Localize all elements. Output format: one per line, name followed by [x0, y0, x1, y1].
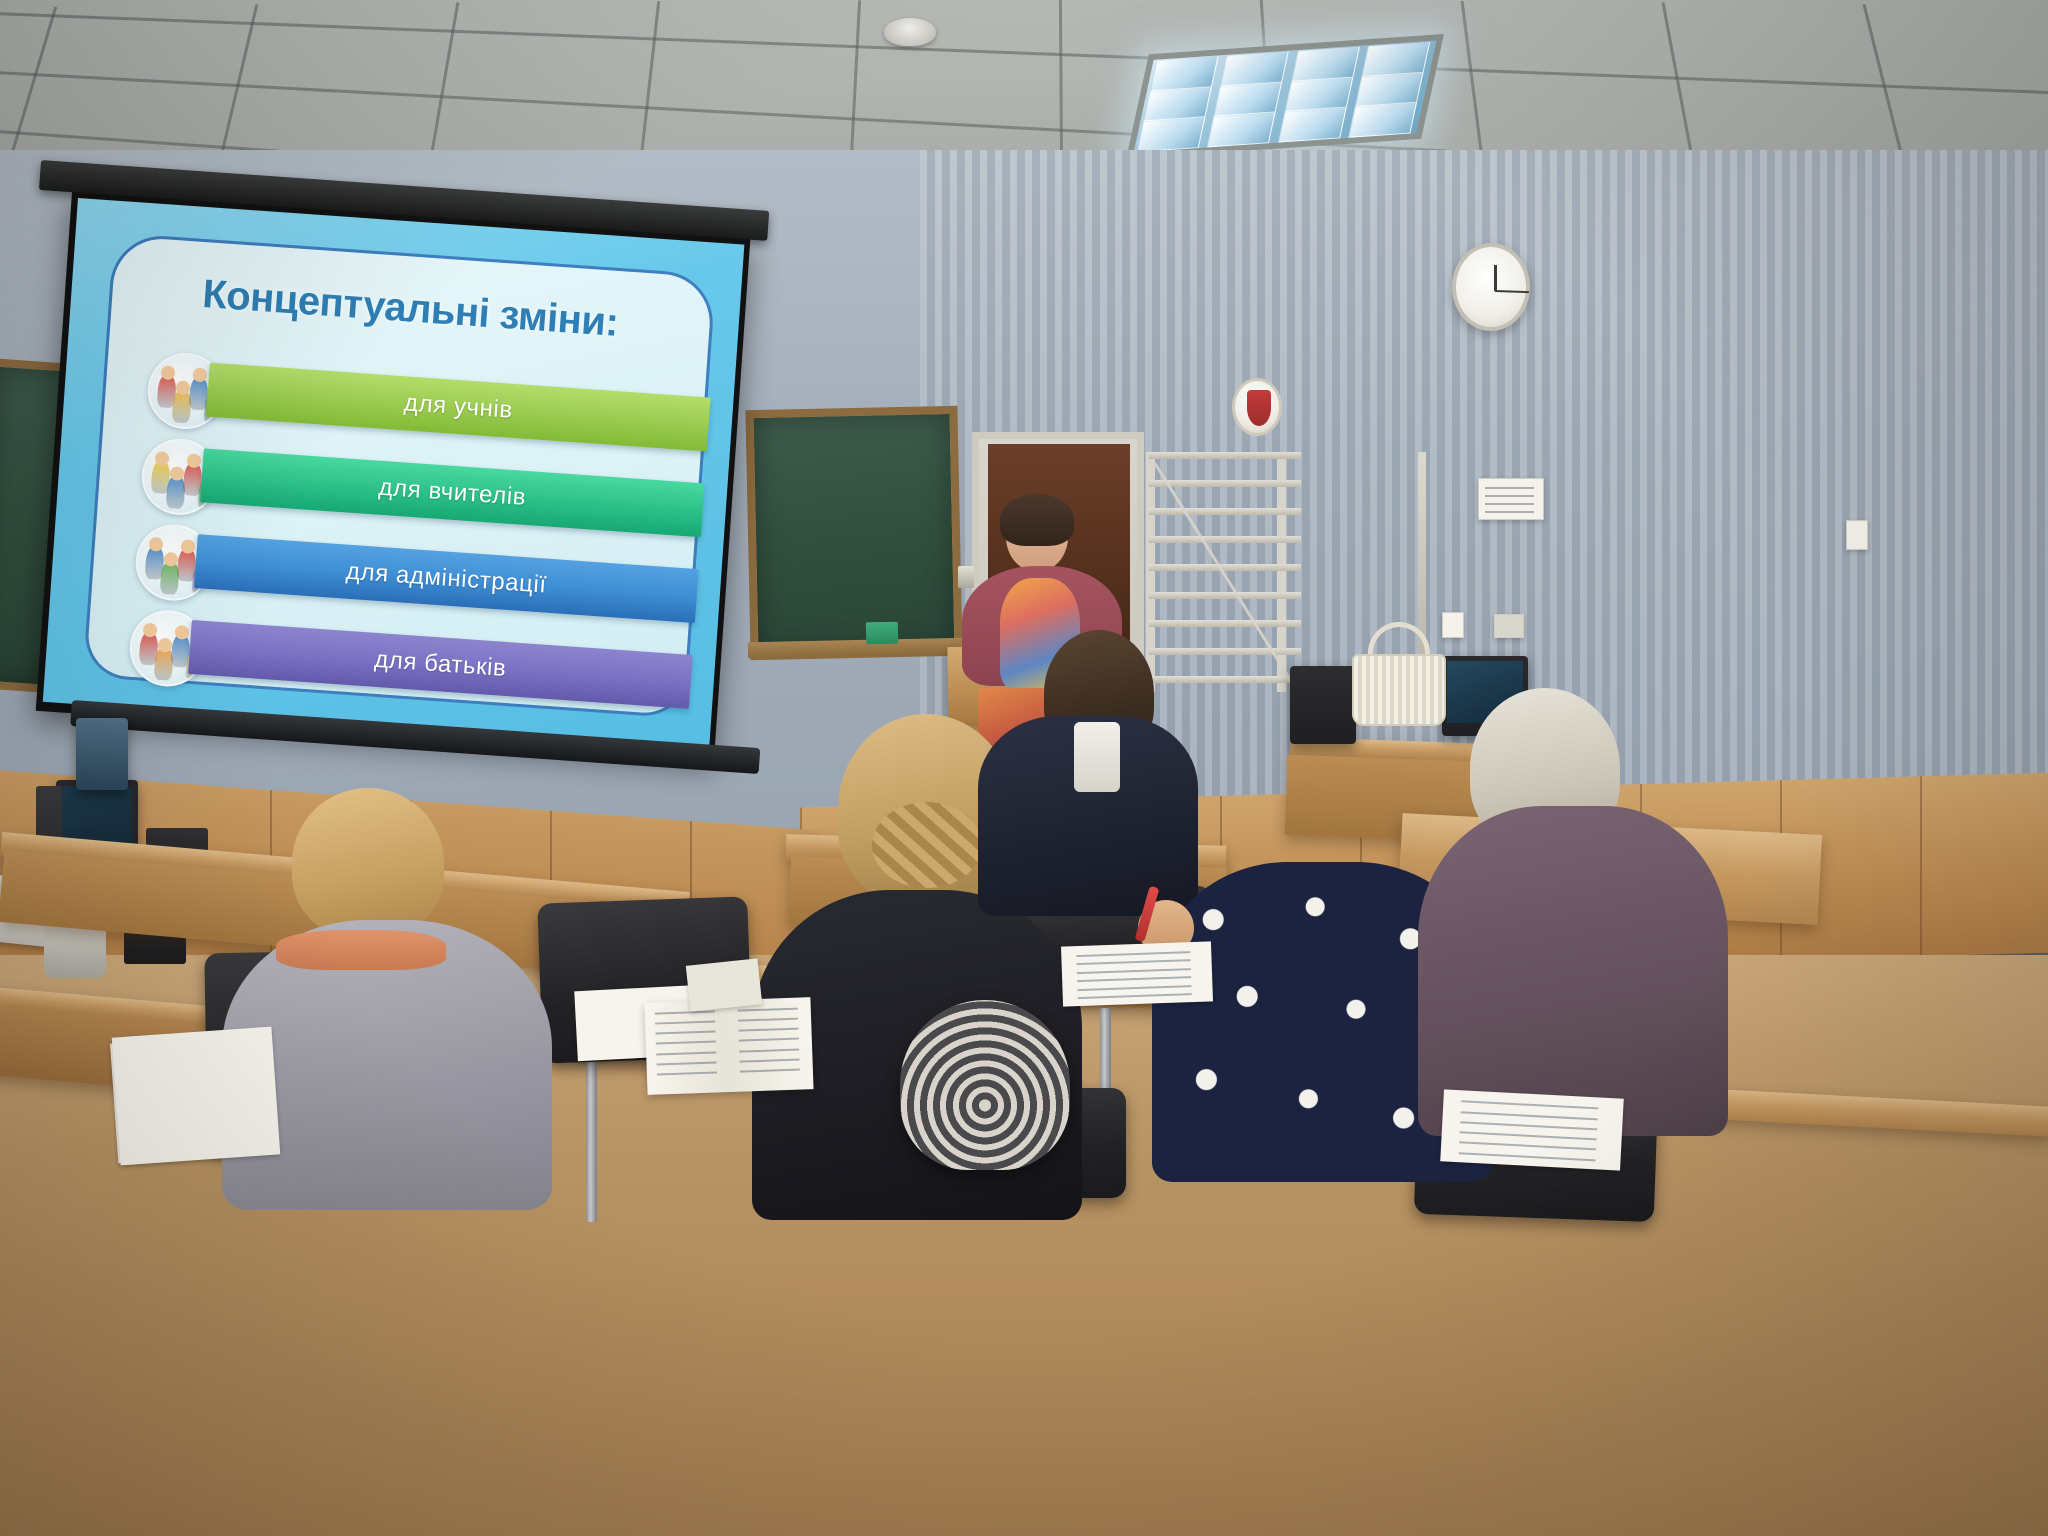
wall-bar-diagonal: [1154, 463, 1300, 694]
handout-paper-far-right: [1440, 1089, 1624, 1170]
slide-content-frame: Концептуальні зміни: для учнів для вчите…: [83, 233, 717, 719]
clock-hour-hand: [1494, 265, 1497, 291]
light-panel-cell: [1278, 108, 1347, 143]
ceiling-light-panel: [1126, 34, 1444, 159]
smoke-detector-icon: [884, 18, 936, 46]
wall-bar-rung: [1149, 564, 1301, 571]
wall-notice-far-right: [1846, 520, 1868, 550]
wall-bar-rung: [1149, 452, 1301, 459]
slide-bar-label-teachers: для вчителів: [378, 474, 527, 512]
slide-bar-teachers: для вчителів: [200, 448, 705, 537]
paper-text-line: [1485, 511, 1534, 513]
book-text-line: [739, 1058, 799, 1062]
light-panel-cell: [1136, 117, 1205, 152]
paper-text-line: [1459, 1152, 1596, 1161]
slide-bar-administration: для адміністрації: [194, 534, 699, 623]
attendee-far-right-torso: [1418, 806, 1728, 1136]
light-panel-cell: [1284, 77, 1353, 112]
light-panel-cell: [1207, 113, 1276, 148]
light-panel-cell: [1355, 72, 1424, 107]
wood-panel-seam: [1920, 776, 1922, 956]
book-text-line: [655, 1021, 715, 1025]
slide-row-teachers: для вчителів: [140, 436, 703, 537]
light-panel-cell: [1220, 51, 1289, 86]
slide-bar-label-students: для учнів: [403, 389, 514, 425]
attendee-center-braid: [872, 802, 982, 888]
green-box-object: [866, 622, 898, 645]
light-panel-cell: [1348, 103, 1417, 138]
classroom-scene: Концептуальні зміни: для учнів для вчите…: [0, 0, 2048, 1536]
paper-text-line: [1460, 1121, 1597, 1130]
book-text-line: [657, 1061, 717, 1065]
slide-row-parents: для батьків: [128, 608, 691, 709]
projected-slide: Концептуальні зміни: для учнів для вчите…: [43, 198, 745, 748]
slide-row-students: для учнів: [146, 350, 709, 451]
book-text-line: [655, 1031, 715, 1035]
wall-bars-ladder: [1146, 452, 1286, 692]
paper-text-line: [1485, 487, 1534, 489]
wall-emblem: [1232, 378, 1282, 436]
handout-paper-right: [1061, 941, 1213, 1006]
slide-bar-parents: для батьків: [188, 620, 693, 709]
book-text-line: [738, 1008, 798, 1012]
paper-text-line: [1485, 503, 1534, 505]
door-handle-icon[interactable]: [958, 566, 974, 588]
clock-minute-hand: [1495, 290, 1529, 293]
wall-bar-rung: [1149, 536, 1301, 543]
open-book-center: [644, 997, 813, 1095]
wall-bar-rung: [1149, 620, 1301, 627]
woven-basket: [1352, 654, 1446, 726]
slide-title: Концептуальні зміни:: [201, 272, 723, 353]
light-panel-cell: [1214, 82, 1283, 117]
chalkboard-right: [745, 406, 962, 660]
paper-text-line: [1485, 495, 1534, 497]
wall-plate-number: [1442, 612, 1464, 638]
tablet-device[interactable]: [686, 958, 762, 1011]
paper-text-line: [1460, 1131, 1597, 1140]
slide-bar-label-administration: для адміністрації: [345, 558, 548, 600]
paper-text-line: [1461, 1111, 1598, 1120]
book-text-line: [740, 1068, 800, 1072]
ceiling-grid-line: [0, 10, 2048, 97]
paper-text-line: [1077, 976, 1191, 982]
paper-text-line: [1076, 951, 1190, 957]
book-text-line: [657, 1071, 717, 1075]
light-panel-cell: [1291, 47, 1360, 82]
emblem-shield-icon: [1247, 390, 1271, 426]
wall-bar-rung: [1149, 592, 1301, 599]
book-text-line: [656, 1041, 716, 1045]
light-panel-cell: [1362, 42, 1431, 77]
book-text-line: [739, 1048, 799, 1052]
attendee-man-shirt: [1074, 722, 1120, 792]
book-text-line: [739, 1038, 799, 1042]
paper-text-line: [1459, 1142, 1596, 1151]
attendee-front-left-hair: [292, 788, 444, 938]
paper-text-line: [1078, 994, 1192, 1000]
wall-bar-rung: [1149, 648, 1301, 655]
wall-clock: [1452, 243, 1530, 331]
slide-bar-students: для учнів: [206, 363, 711, 452]
book-text-line: [656, 1051, 716, 1055]
light-panel-cell: [1150, 56, 1219, 91]
sequined-bag: [900, 1000, 1070, 1170]
attendee-front-left-collar: [276, 930, 446, 970]
paper-text-line: [1077, 968, 1191, 974]
wall-bar-rung: [1149, 508, 1301, 515]
wall-notice-right: [1478, 478, 1544, 520]
book-text-line: [738, 1028, 798, 1032]
slide-row-administration: для адміністрації: [134, 522, 697, 623]
paper-text-line: [1461, 1101, 1598, 1110]
presenter-hair: [1000, 494, 1074, 546]
monitor-secondary: [76, 718, 128, 790]
light-panel-cell: [1143, 87, 1212, 122]
wall-bar-rung: [1149, 480, 1301, 487]
paper-text-line: [1077, 959, 1191, 965]
slide-bar-label-parents: для батьків: [373, 646, 507, 683]
book-text-line: [655, 1011, 715, 1015]
handout-paper-desk-left: [112, 1027, 281, 1166]
desk-leg-front: [586, 1062, 597, 1222]
book-text-line: [738, 1018, 798, 1022]
wall-socket-icon: [1494, 614, 1524, 638]
wall-bar-rung: [1149, 676, 1301, 683]
paper-text-line: [1077, 985, 1191, 991]
